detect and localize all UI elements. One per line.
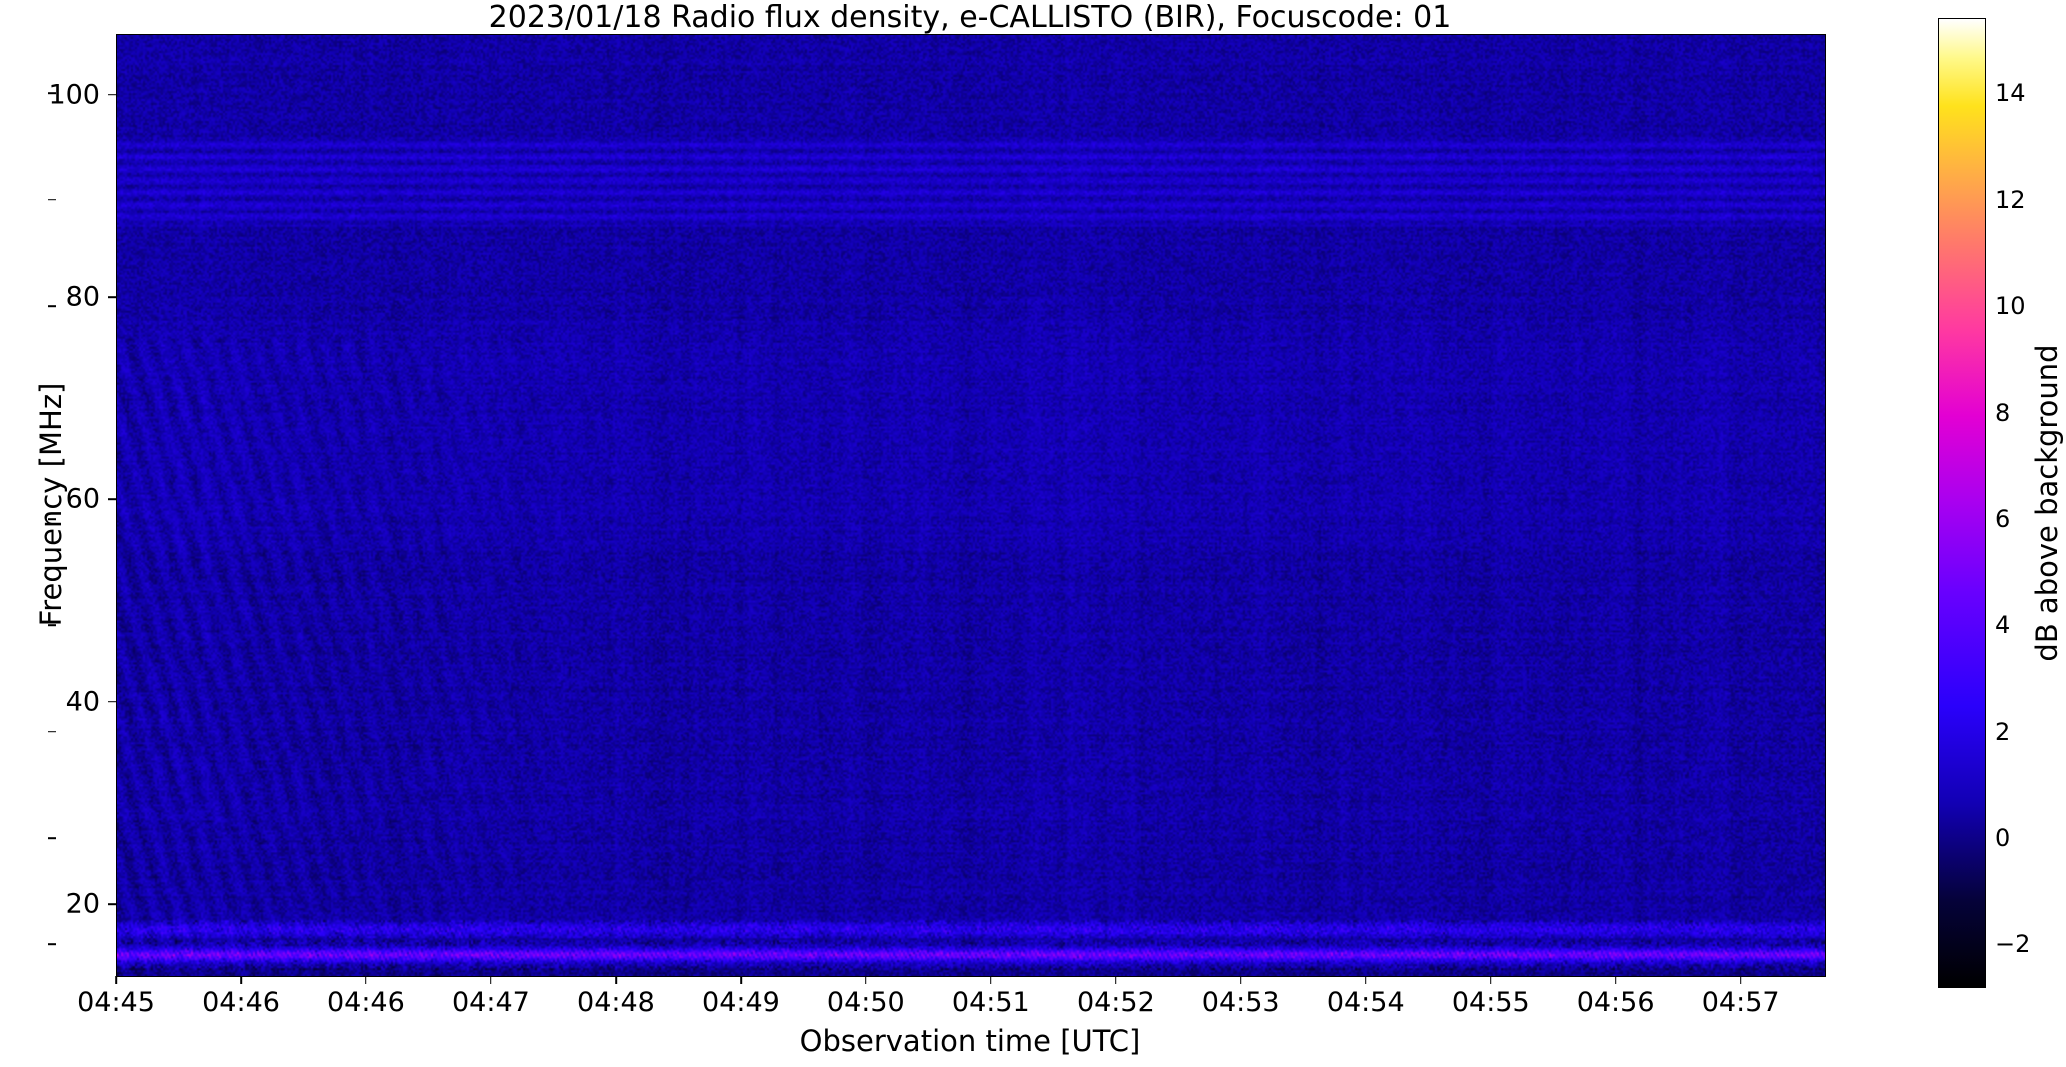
x-tick-mark <box>1490 976 1492 984</box>
x-tick-label: 04:49 <box>702 987 780 1018</box>
x-tick-label: 04:54 <box>1327 987 1405 1018</box>
y-tick-mark <box>108 296 116 298</box>
x-tick-label: 04:51 <box>952 987 1030 1018</box>
x-axis-label: Observation time [UTC] <box>116 1024 1824 1058</box>
colorbar-tick-mark <box>48 518 56 520</box>
colorbar-tick-label: 8 <box>1995 399 2010 427</box>
x-tick-mark <box>240 976 242 984</box>
colorbar-tick-label: 2 <box>1995 718 2010 746</box>
colorbar-tick-mark <box>48 199 56 201</box>
colorbar-tick-mark <box>48 731 56 733</box>
colorbar-tick-mark <box>48 93 56 95</box>
figure-canvas: 2023/01/18 Radio flux density, e-CALLIST… <box>0 0 2066 1067</box>
colorbar-tick-label: 4 <box>1995 611 2010 639</box>
x-tick-label: 04:50 <box>827 987 905 1018</box>
y-tick-mark <box>108 701 116 703</box>
x-tick-label: 04:47 <box>452 987 530 1018</box>
y-tick-mark <box>108 903 116 905</box>
x-tick-label: 04:46 <box>327 987 405 1018</box>
colorbar-tick-mark <box>48 305 56 307</box>
y-tick-mark <box>108 499 116 501</box>
x-tick-label: 04:53 <box>1202 987 1280 1018</box>
colorbar-tick-label: 6 <box>1995 505 2010 533</box>
x-tick-label: 04:56 <box>1577 987 1655 1018</box>
x-tick-mark <box>1115 976 1117 984</box>
colorbar-tick-mark <box>48 837 56 839</box>
x-tick-label: 04:45 <box>77 987 155 1018</box>
colorbar-label: dB above background <box>2030 18 2064 988</box>
x-tick-label: 04:52 <box>1077 987 1155 1018</box>
x-tick-mark <box>1240 976 1242 984</box>
colorbar-gradient <box>1938 18 1986 988</box>
colorbar-tick-mark <box>48 625 56 627</box>
colorbar-tick-label: 14 <box>1995 79 2026 107</box>
x-tick-mark <box>1365 976 1367 984</box>
x-tick-mark <box>365 976 367 984</box>
x-tick-mark <box>115 976 117 984</box>
spectrogram-axes[interactable] <box>116 34 1826 977</box>
y-axis-tick-marks <box>108 34 117 975</box>
x-tick-mark <box>865 976 867 984</box>
x-tick-mark <box>1615 976 1617 984</box>
colorbar-tick-marks <box>48 18 57 988</box>
colorbar-tick-label: 12 <box>1995 186 2026 214</box>
colorbar-tick-mark <box>48 412 56 414</box>
x-tick-mark <box>1740 976 1742 984</box>
x-axis-tick-labels: 04:4504:4604:4604:4704:4804:4904:5004:51… <box>116 987 1824 1021</box>
x-tick-label: 04:46 <box>202 987 280 1018</box>
x-tick-mark <box>490 976 492 984</box>
spectrogram-image <box>117 35 1825 976</box>
x-tick-label: 04:55 <box>1452 987 1530 1018</box>
x-tick-mark <box>615 976 617 984</box>
x-tick-mark <box>740 976 742 984</box>
y-tick-mark <box>108 94 116 96</box>
colorbar-tick-label: 10 <box>1995 292 2026 320</box>
x-tick-mark <box>990 976 992 984</box>
page-title: 2023/01/18 Radio flux density, e-CALLIST… <box>116 2 1824 34</box>
x-axis-tick-marks <box>116 976 1824 985</box>
colorbar[interactable] <box>1938 18 1986 988</box>
x-tick-label: 04:48 <box>577 987 655 1018</box>
x-tick-label: 04:57 <box>1702 987 1780 1018</box>
colorbar-tick-label: 0 <box>1995 824 2010 852</box>
colorbar-tick-label: −2 <box>1995 930 2030 958</box>
colorbar-tick-mark <box>48 944 56 946</box>
